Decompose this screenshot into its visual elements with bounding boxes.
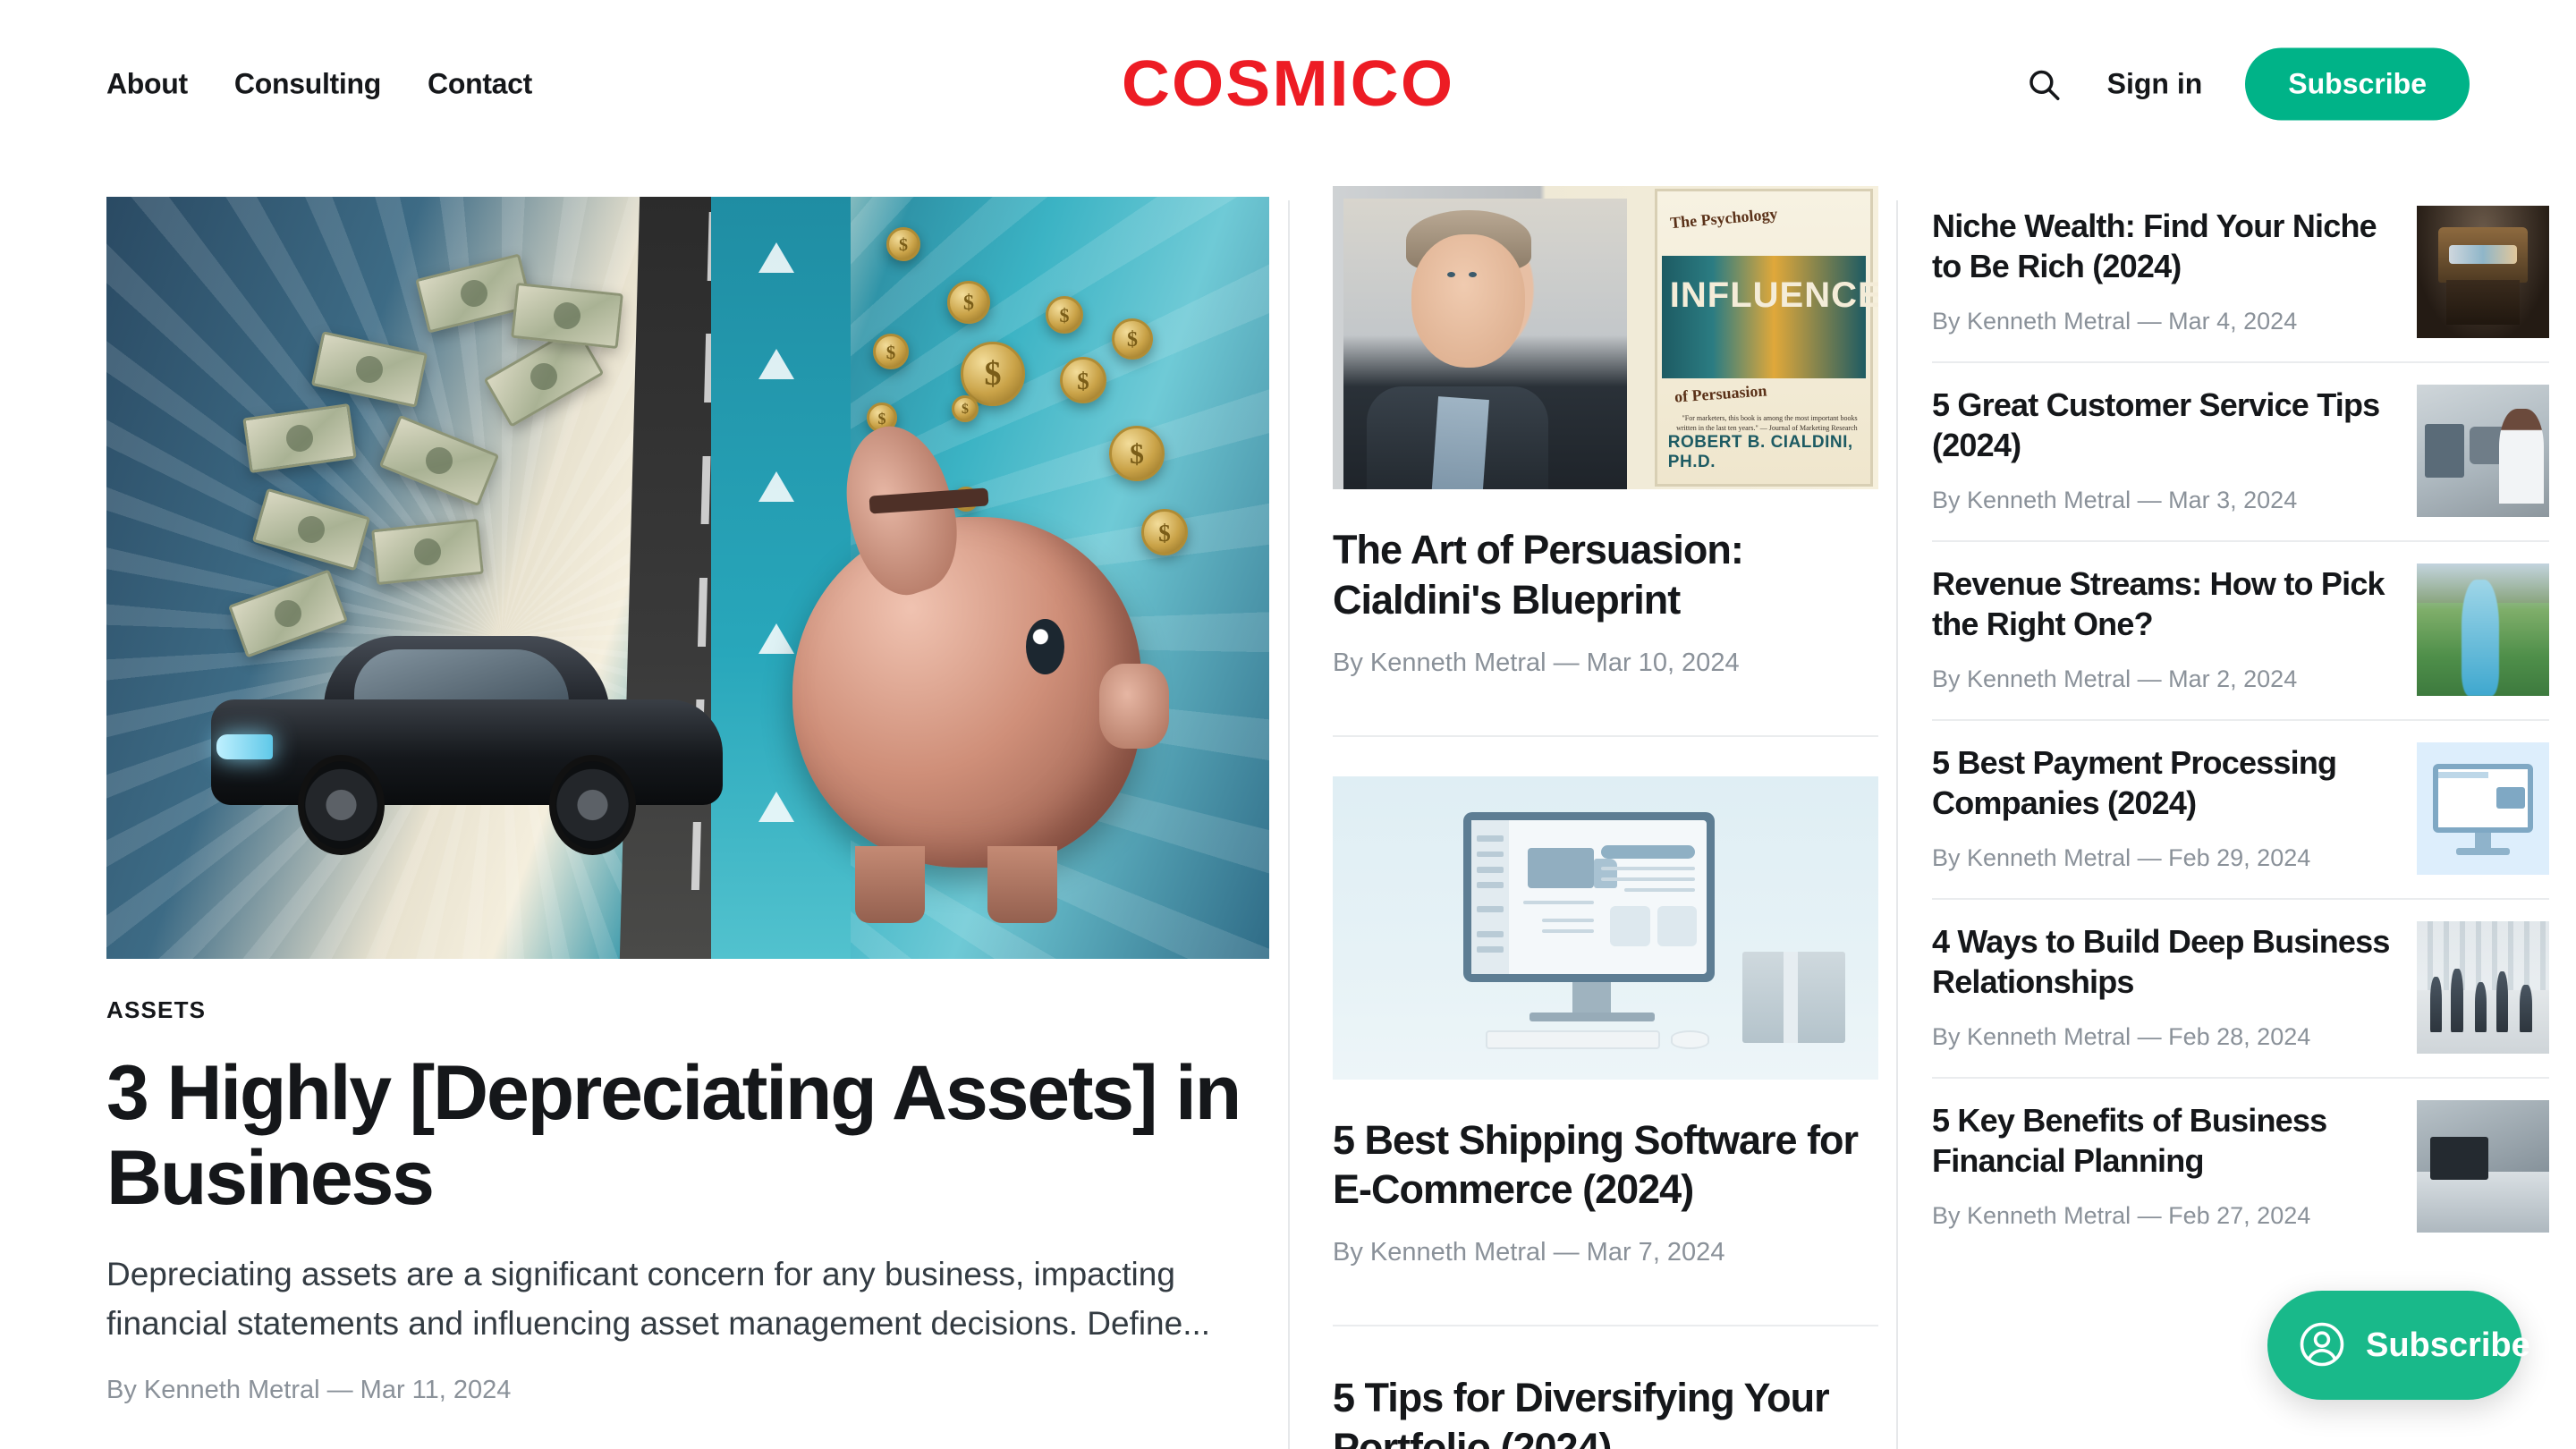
sidebar-item-thumbnail[interactable] xyxy=(2417,385,2549,517)
cialdini-portrait xyxy=(1343,199,1627,489)
sidebar-item-title[interactable]: 5 Best Payment Processing Companies (202… xyxy=(1932,742,2395,824)
feature-article: $ $ $ $ $ $ $ $ $ $ $ $ xyxy=(106,197,1269,1405)
list-item[interactable]: Revenue Streams: How to Pick the Right O… xyxy=(1932,540,2549,719)
floating-subscribe-label: Subscribe xyxy=(2366,1326,2530,1365)
mouse-illustration xyxy=(1671,1030,1709,1048)
primary-nav: About Consulting Contact xyxy=(106,68,532,101)
sign-in-link[interactable]: Sign in xyxy=(2107,68,2203,101)
feature-image-piggy-bank xyxy=(792,517,1141,868)
sidebar-item-title[interactable]: Revenue Streams: How to Pick the Right O… xyxy=(1932,563,2395,645)
brand-logo[interactable]: COSMICO xyxy=(1122,52,1454,116)
sidebar-latest-posts: Niche Wealth: Find Your Niche to Be Rich… xyxy=(1932,184,2549,1447)
book-author: ROBERT B. CIALDINI, PH.D. xyxy=(1668,433,1870,472)
list-item[interactable]: 5 Great Customer Service Tips (2024) By … xyxy=(1932,361,2549,540)
user-circle-icon xyxy=(2298,1320,2346,1371)
parcel-box-illustration xyxy=(1742,952,1846,1043)
header-actions: Sign in Subscribe xyxy=(2023,48,2470,121)
sidebar-item-thumbnail[interactable] xyxy=(2417,563,2549,696)
middle-card-portfolio: 5 Tips for Diversifying Your Portfolio (… xyxy=(1333,1325,1878,1449)
feature-image-car xyxy=(211,631,723,860)
book-main-word: INFLUENCE xyxy=(1670,275,1878,316)
book-top-line: The Psychology xyxy=(1669,205,1778,233)
middle-card-title[interactable]: 5 Best Shipping Software for E-Commerce … xyxy=(1333,1115,1878,1216)
sidebar-item-meta: By Kenneth Metral — Feb 28, 2024 xyxy=(1932,1021,2395,1053)
feature-title[interactable]: 3 Highly [Depreciating Assets] in Busine… xyxy=(106,1051,1260,1220)
book-sub-line: of Persuasion xyxy=(1674,381,1767,406)
list-item[interactable]: Niche Wealth: Find Your Niche to Be Rich… xyxy=(1932,184,2549,361)
sidebar-item-thumbnail[interactable] xyxy=(2417,1100,2549,1233)
site-header: About Consulting Contact COSMICO Sign in… xyxy=(0,0,2576,168)
column-divider-right xyxy=(1896,200,1898,1449)
search-icon[interactable] xyxy=(2023,64,2064,105)
sidebar-item-thumbnail[interactable] xyxy=(2417,921,2549,1054)
book-quote: "For marketers, this book is among the m… xyxy=(1674,413,1858,433)
sidebar-item-meta: By Kenneth Metral — Mar 2, 2024 xyxy=(1932,663,2395,695)
feature-image-teal-lane xyxy=(711,197,851,959)
nav-link-consulting[interactable]: Consulting xyxy=(234,68,381,101)
sidebar-item-thumbnail[interactable] xyxy=(2417,742,2549,875)
nav-link-about[interactable]: About xyxy=(106,68,188,101)
feature-kicker[interactable]: ASSETS xyxy=(106,996,1269,1024)
subscribe-button[interactable]: Subscribe xyxy=(2245,48,2470,121)
monitor-illustration xyxy=(1463,812,1715,982)
sidebar-item-thumbnail[interactable] xyxy=(2417,206,2549,338)
sidebar-item-meta: By Kenneth Metral — Mar 3, 2024 xyxy=(1932,484,2395,516)
feature-excerpt: Depreciating assets are a significant co… xyxy=(106,1250,1260,1349)
sidebar-item-title[interactable]: 5 Great Customer Service Tips (2024) xyxy=(1932,385,2395,466)
influence-book-cover: The Psychology INFLUENCE of Persuasion "… xyxy=(1655,189,1873,486)
column-divider-left xyxy=(1288,200,1290,1449)
sidebar-item-title[interactable]: 4 Ways to Build Deep Business Relationsh… xyxy=(1932,921,2395,1003)
list-item[interactable]: 5 Key Benefits of Business Financial Pla… xyxy=(1932,1077,2549,1256)
feature-article-image[interactable]: $ $ $ $ $ $ $ $ $ $ $ $ xyxy=(106,197,1269,959)
sidebar-item-title[interactable]: 5 Key Benefits of Business Financial Pla… xyxy=(1932,1100,2395,1182)
nav-link-contact[interactable]: Contact xyxy=(428,68,532,101)
middle-card-title[interactable]: The Art of Persuasion: Cialdini's Bluepr… xyxy=(1333,525,1878,625)
sidebar-item-meta: By Kenneth Metral — Mar 4, 2024 xyxy=(1932,305,2395,337)
middle-card-meta: By Kenneth Metral — Mar 10, 2024 xyxy=(1333,648,1878,716)
sidebar-item-meta: By Kenneth Metral — Feb 29, 2024 xyxy=(1932,842,2395,874)
list-item[interactable]: 5 Best Payment Processing Companies (202… xyxy=(1932,719,2549,898)
middle-card-image[interactable]: The Psychology INFLUENCE of Persuasion "… xyxy=(1333,186,1878,489)
page-body: $ $ $ $ $ $ $ $ $ $ $ $ xyxy=(0,168,2576,1449)
sidebar-item-meta: By Kenneth Metral — Feb 27, 2024 xyxy=(1932,1199,2395,1232)
sidebar-item-title[interactable]: Niche Wealth: Find Your Niche to Be Rich… xyxy=(1932,206,2395,287)
middle-card-cialdini: The Psychology INFLUENCE of Persuasion "… xyxy=(1333,186,1878,735)
keyboard-illustration xyxy=(1486,1030,1660,1048)
feature-meta: By Kenneth Metral — Mar 11, 2024 xyxy=(106,1376,1269,1405)
middle-card-shipping: 5 Best Shipping Software for E-Commerce … xyxy=(1333,735,1878,1326)
middle-column: The Psychology INFLUENCE of Persuasion "… xyxy=(1333,186,1878,1449)
floating-subscribe-button[interactable]: Subscribe xyxy=(2267,1291,2522,1400)
middle-card-meta: By Kenneth Metral — Mar 7, 2024 xyxy=(1333,1238,1878,1305)
list-item[interactable]: 4 Ways to Build Deep Business Relationsh… xyxy=(1932,898,2549,1077)
middle-card-title[interactable]: 5 Tips for Diversifying Your Portfolio (… xyxy=(1333,1373,1878,1449)
middle-card-image[interactable] xyxy=(1333,776,1878,1080)
